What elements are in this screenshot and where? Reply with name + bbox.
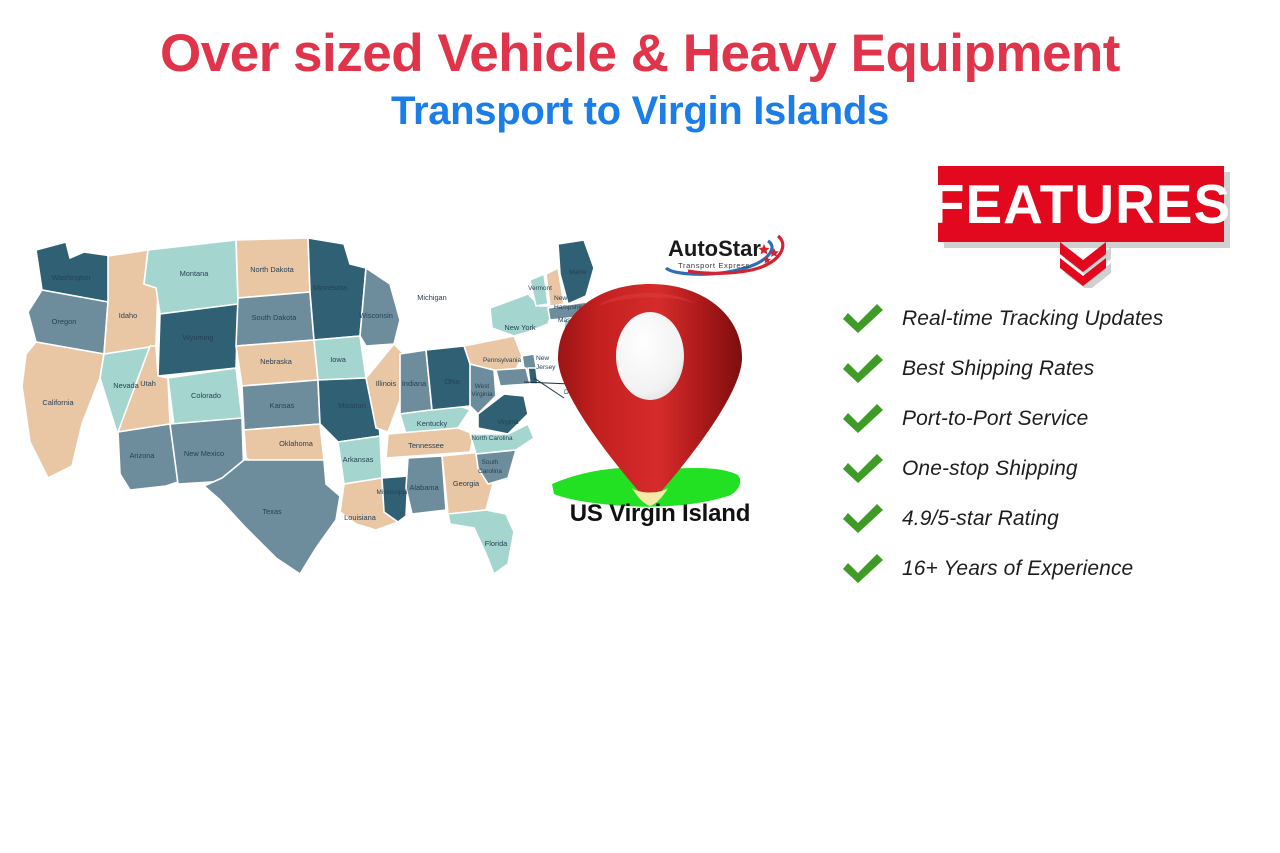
- label-northcarolina: North Carolina: [471, 435, 513, 442]
- label-montana: Montana: [180, 269, 210, 278]
- label-arizona: Arizona: [129, 451, 155, 460]
- label-illinois: Illinois: [376, 379, 397, 388]
- feature-item: One-stop Shipping: [840, 444, 1240, 494]
- check-icon: [840, 452, 886, 486]
- destination-marker: [540, 276, 780, 536]
- label-nebraska: Nebraska: [260, 357, 293, 366]
- feature-label: 16+ Years of Experience: [886, 557, 1133, 581]
- label-newyork: New York: [504, 323, 536, 332]
- label-kentucky: Kentucky: [417, 419, 448, 428]
- label-westvirginia-2: Virginia: [471, 391, 493, 398]
- label-kansas: Kansas: [270, 401, 295, 410]
- label-idaho: Idaho: [119, 311, 138, 320]
- label-indiana: Indiana: [402, 379, 427, 388]
- label-virginia: Virginia: [497, 419, 519, 426]
- label-alabama: Alabama: [409, 483, 439, 492]
- state-texas: [204, 460, 340, 574]
- pin-hole: [616, 312, 684, 400]
- state-california: [22, 342, 104, 478]
- label-colorado: Colorado: [191, 391, 221, 400]
- features-banner-title: FEATURES: [931, 177, 1231, 232]
- state-maryland: [496, 368, 530, 386]
- label-northdakota: North Dakota: [250, 265, 294, 274]
- check-icon: [840, 302, 886, 336]
- label-southcarolina-2: Carolina: [478, 468, 502, 475]
- features-list: Real-time Tracking Updates Best Shipping…: [840, 294, 1240, 594]
- double-chevron-down-icon: [1052, 240, 1122, 288]
- features-banner-plate: FEATURES: [938, 166, 1224, 242]
- feature-item: Real-time Tracking Updates: [840, 294, 1240, 344]
- label-michigan: Michigan: [417, 293, 447, 302]
- label-florida: Florida: [485, 539, 508, 548]
- label-georgia: Georgia: [453, 479, 480, 488]
- label-southcarolina-1: South: [482, 459, 499, 466]
- feature-label: Real-time Tracking Updates: [886, 307, 1163, 331]
- feature-item: Port-to-Port Service: [840, 394, 1240, 444]
- label-maine: Maine: [569, 269, 587, 276]
- logo-tagline: Transport Express: [678, 261, 750, 270]
- label-wisconsin: Wisconsin: [359, 311, 393, 320]
- check-icon: [840, 352, 886, 386]
- feature-label: One-stop Shipping: [886, 457, 1078, 481]
- page-subtitle: Transport to Virgin Islands: [0, 88, 1280, 134]
- state-wisconsin: [360, 268, 400, 346]
- label-missouri: Missouri: [338, 401, 366, 410]
- label-tennessee: Tennessee: [408, 441, 444, 450]
- label-nevada: Nevada: [113, 381, 139, 390]
- feature-label: Port-to-Port Service: [886, 407, 1088, 431]
- label-minnesota: Minnesota: [313, 283, 348, 292]
- us-map: Washington Oregon California Nevada Idah…: [8, 228, 628, 588]
- page-title: Over sized Vehicle & Heavy Equipment: [0, 26, 1280, 82]
- label-wyoming: Wyoming: [183, 333, 214, 342]
- label-westvirginia-1: West: [475, 383, 490, 390]
- state-michigan: [400, 264, 460, 342]
- label-oklahoma: Oklahoma: [279, 439, 314, 448]
- label-texas: Texas: [262, 507, 282, 516]
- label-utah: Utah: [140, 379, 156, 388]
- label-newmexico: New Mexico: [184, 449, 224, 458]
- page-header: Over sized Vehicle & Heavy Equipment Tra…: [0, 26, 1280, 134]
- check-icon: [840, 552, 886, 586]
- feature-item: 4.9/5-star Rating: [840, 494, 1240, 544]
- label-mississippi: Mississippi: [377, 489, 408, 496]
- state-pennsylvania: [464, 336, 522, 370]
- autostar-logo: AutoStar Transport Express: [660, 228, 790, 280]
- label-louisiana: Louisiana: [344, 513, 377, 522]
- label-ohio: Ohio: [444, 377, 460, 386]
- destination-label: US Virgin Island: [540, 500, 780, 528]
- label-oregon: Oregon: [52, 317, 77, 326]
- label-arkansas: Arkansas: [343, 455, 374, 464]
- check-icon: [840, 502, 886, 536]
- feature-item: Best Shipping Rates: [840, 344, 1240, 394]
- logo-wordmark: AutoStar: [668, 236, 761, 261]
- feature-label: Best Shipping Rates: [886, 357, 1094, 381]
- features-banner: FEATURES: [938, 166, 1224, 242]
- feature-item: 16+ Years of Experience: [840, 544, 1240, 594]
- feature-label: 4.9/5-star Rating: [886, 507, 1059, 531]
- label-pennsylvania: Pennsylvania: [483, 357, 521, 364]
- label-iowa: Iowa: [330, 355, 347, 364]
- label-california: California: [42, 398, 74, 407]
- label-washington: Washington: [52, 273, 91, 282]
- check-icon: [840, 402, 886, 436]
- label-southdakota: South Dakota: [252, 313, 298, 322]
